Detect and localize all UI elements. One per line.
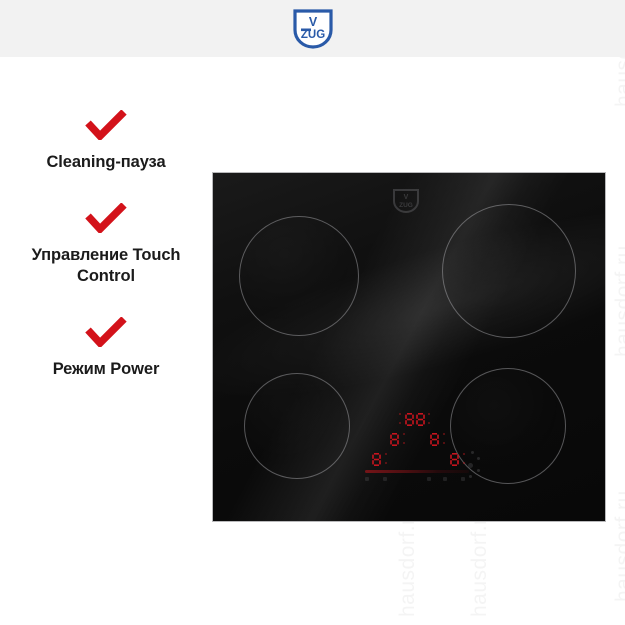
cooking-zone-top-left[interactable] [239,216,359,336]
feature-item: Режим Power [0,317,212,380]
led-dots [403,433,406,446]
feature-list: Cleaning-пауза Управление Touch Control … [0,110,212,406]
feature-label: Режим Power [0,359,212,380]
induction-cooktop: V ZUG [212,172,606,522]
led-display-mid-left [389,433,406,446]
led-display-bottom-right [449,453,466,466]
led-digit [450,453,459,466]
check-icon [85,317,127,347]
led-digit [390,433,399,446]
led-display-top [399,413,431,426]
svg-text:ZUG: ZUG [399,202,413,209]
slider-tick-marks [365,476,469,484]
feature-item: Управление Touch Control [0,203,212,287]
feature-label: Cleaning-пауза [0,152,212,173]
led-dots [463,453,466,466]
touch-key-lock-icon[interactable] [477,457,480,460]
cooking-zone-top-right[interactable] [442,204,576,338]
led-dots-right [428,413,431,426]
page-root: V ZUG hausdorf.ru hausdorf.ru hausdorf.r… [0,0,625,625]
watermark: hausdorf.ru [396,505,420,617]
touch-key-plus-icon[interactable] [477,469,480,472]
led-display-bottom-left [371,453,388,466]
logo-text-v: V [308,15,317,29]
led-digit [430,433,439,446]
led-digit [416,413,425,426]
touch-key-power-icon[interactable] [468,463,473,468]
watermark: hausdorf.ru [612,245,625,357]
page-header: V ZUG [0,0,625,57]
slider-tick [443,477,447,481]
cooktop-brand-badge: V ZUG [391,188,421,214]
watermark: hausdorf.ru [468,505,492,617]
led-digit [405,413,414,426]
led-display-mid-right [429,433,446,446]
slider-tick [365,477,369,481]
check-icon [85,110,127,140]
feature-label: Управление Touch Control [0,245,212,287]
watermark: hausdorf.ru [612,490,625,602]
svg-text:V: V [404,194,409,201]
slider-tick [461,477,465,481]
slider-tick [383,477,387,481]
cooking-zone-bottom-left[interactable] [244,373,350,479]
vzug-logo: V ZUG [289,8,337,50]
led-dots-left [399,413,402,426]
touch-control-panel[interactable] [363,413,481,491]
watermark: hausdorf.ru [612,57,625,107]
led-dots [443,433,446,446]
touch-key-minus-icon[interactable] [469,475,472,478]
touch-key-timer-icon[interactable] [471,451,474,454]
feature-item: Cleaning-пауза [0,110,212,173]
led-digit [372,453,381,466]
power-slider[interactable] [365,470,469,473]
check-icon [85,203,127,233]
slider-tick [427,477,431,481]
led-dots [385,453,388,466]
